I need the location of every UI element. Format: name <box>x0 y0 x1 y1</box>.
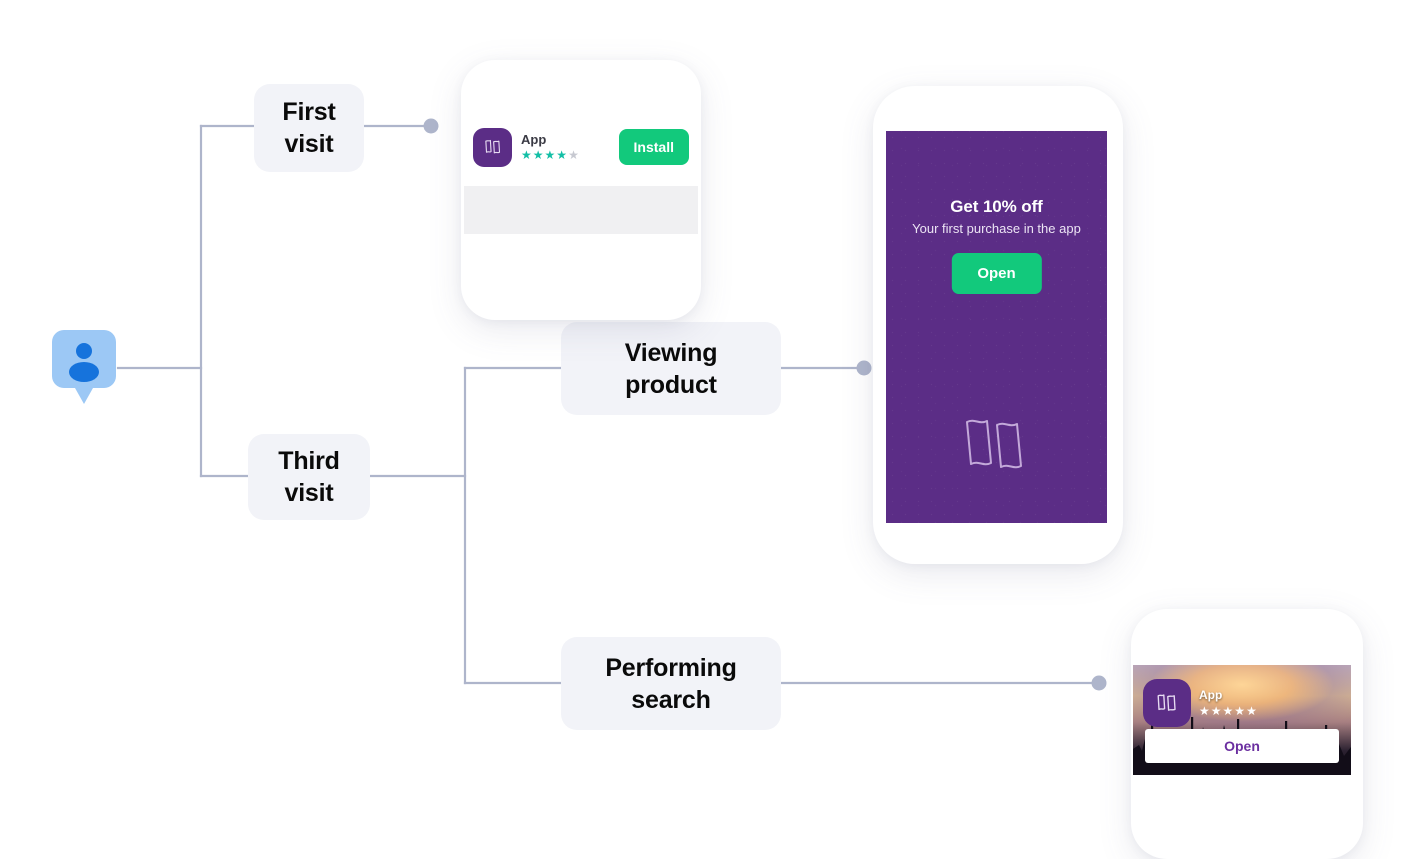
app-name-label: App <box>521 133 610 147</box>
star-icon: ★ <box>556 149 567 161</box>
app-meta: App ★ ★ ★ ★ ★ <box>521 133 610 161</box>
stage-label-performing-search[interactable]: Performing search <box>561 637 781 730</box>
flow-diagram-canvas: First visit Third visit Viewing product … <box>0 0 1418 805</box>
install-button[interactable]: Install <box>619 129 689 165</box>
connector-endpoint-dot <box>857 361 872 376</box>
offer-screen: Get 10% off Your first purchase in the a… <box>886 131 1107 523</box>
star-icon: ★ <box>1211 705 1222 717</box>
app-install-banner: App ★ ★ ★ ★ ★ Install <box>461 108 701 186</box>
app-meta: App ★ ★ ★ ★ ★ <box>1199 689 1341 716</box>
stage-label-line2: visit <box>282 128 335 160</box>
open-app-button[interactable]: Open <box>951 253 1041 294</box>
stage-label-line1: Performing <box>605 652 736 684</box>
offer-subtext: Your first purchase in the app <box>886 221 1107 236</box>
app-rating-stars: ★ ★ ★ ★ ★ <box>521 149 610 161</box>
offer-headline: Get 10% off <box>886 197 1107 217</box>
ticket-app-icon <box>1143 679 1191 727</box>
stage-label-line2: search <box>605 684 736 716</box>
ticket-outline-icon <box>961 411 1033 477</box>
star-icon: ★ <box>533 149 544 161</box>
phone-mockup-install-banner: App ★ ★ ★ ★ ★ Install <box>461 60 701 320</box>
stage-label-first-visit[interactable]: First visit <box>254 84 364 172</box>
stage-label-line1: Third <box>278 445 340 477</box>
star-icon: ★ <box>545 149 556 161</box>
stage-label-viewing-product[interactable]: Viewing product <box>561 322 781 415</box>
stage-label-line1: First <box>282 96 335 128</box>
star-icon: ★ <box>1223 705 1234 717</box>
star-icon: ★ <box>1246 705 1257 717</box>
star-icon-empty: ★ <box>568 149 579 161</box>
stage-label-line1: Viewing <box>625 337 718 369</box>
app-store-content-placeholder <box>464 186 698 234</box>
star-icon: ★ <box>521 149 532 161</box>
star-icon: ★ <box>1234 705 1245 717</box>
concert-smart-banner: App ★ ★ ★ ★ ★ Open <box>1133 665 1351 775</box>
app-banner-row: App ★ ★ ★ ★ ★ <box>1133 679 1351 727</box>
star-icon: ★ <box>1199 705 1210 717</box>
stage-label-third-visit[interactable]: Third visit <box>248 434 370 520</box>
connector-endpoint-dot <box>424 119 439 134</box>
phone-mockup-offer-interstitial: Get 10% off Your first purchase in the a… <box>873 86 1123 564</box>
open-app-button[interactable]: Open <box>1145 729 1339 763</box>
stage-label-line2: product <box>625 369 718 401</box>
user-avatar-pin-icon <box>52 330 116 406</box>
app-name-label: App <box>1199 689 1341 702</box>
stage-label-line2: visit <box>278 477 340 509</box>
ticket-app-icon <box>473 128 512 167</box>
connector-endpoint-dot <box>1092 676 1107 691</box>
app-rating-stars: ★ ★ ★ ★ ★ <box>1199 705 1341 717</box>
phone-mockup-concert-banner: App ★ ★ ★ ★ ★ Open <box>1131 609 1363 859</box>
